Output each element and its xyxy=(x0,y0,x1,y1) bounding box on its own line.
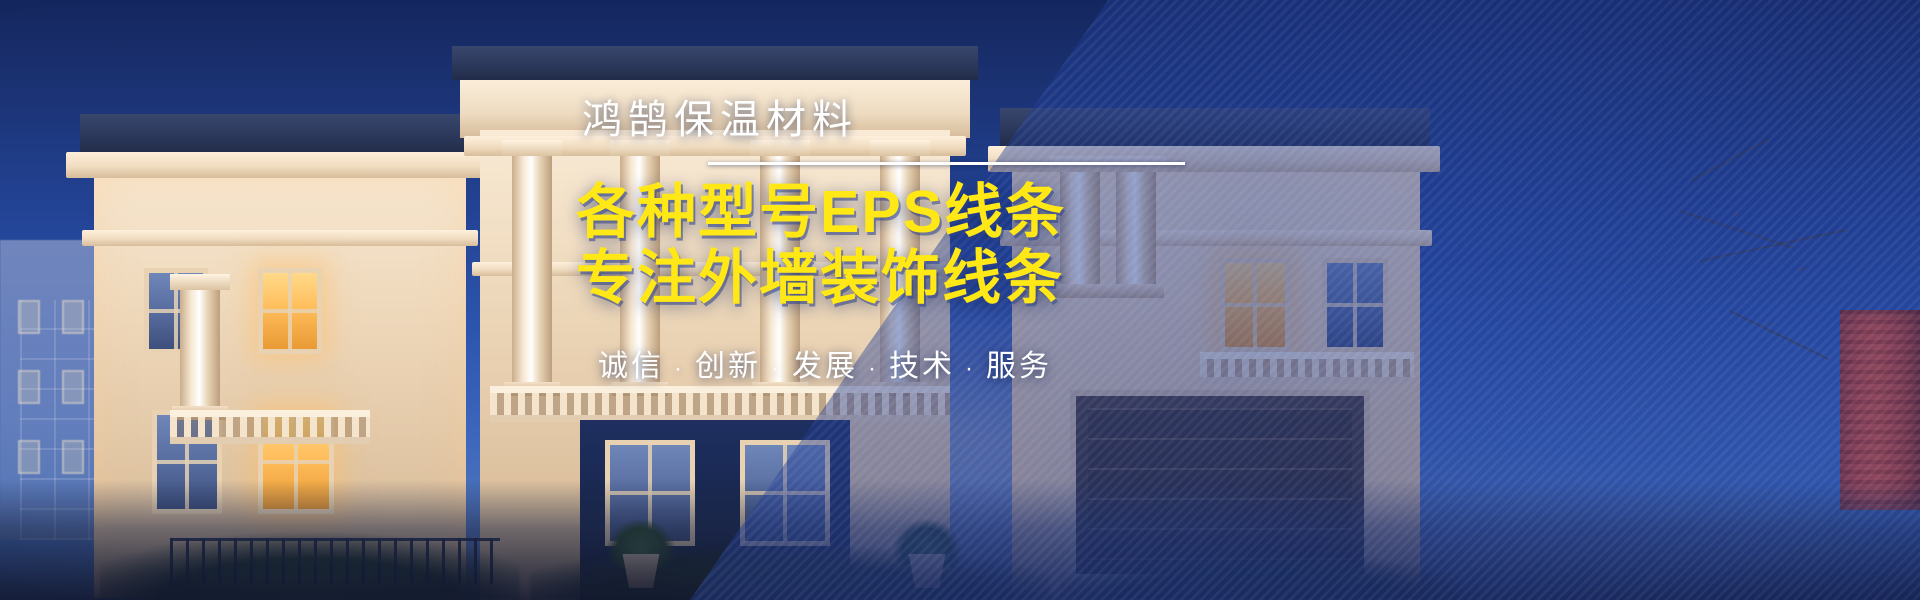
balustrade-left xyxy=(170,410,370,444)
tagline: 诚信·创新·发展·技术·服务 xyxy=(598,341,1276,385)
tagline-item: 诚信 xyxy=(598,350,664,383)
column-left-1 xyxy=(180,290,220,420)
cornice-left xyxy=(66,152,494,178)
tagline-item: 创新 xyxy=(695,350,761,383)
title-divider xyxy=(708,162,1185,165)
band-left xyxy=(82,230,478,246)
headline-line-2: 专注外墙装饰线条 xyxy=(576,245,1276,311)
headline-line-1: 各种型号EPS线条 xyxy=(576,179,1276,245)
roof-center xyxy=(452,46,978,80)
tagline-separator: · xyxy=(868,355,879,382)
tagline-separator: · xyxy=(674,355,685,382)
window-left-upper-2 xyxy=(258,268,322,354)
tagline-item: 服务 xyxy=(986,350,1052,383)
brand-name: 鸿鹄保温材料 xyxy=(582,96,1276,144)
banner-copy: 鸿鹄保温材料 各种型号EPS线条 专注外墙装饰线条 诚信·创新·发展·技术·服务 xyxy=(576,96,1276,385)
hero-banner: 鸿鹄保温材料 各种型号EPS线条 专注外墙装饰线条 诚信·创新·发展·技术·服务 xyxy=(0,0,1920,600)
tagline-item: 技术 xyxy=(889,350,955,383)
column-center-1 xyxy=(512,156,552,396)
tagline-separator: · xyxy=(771,355,782,382)
tagline-separator: · xyxy=(965,355,976,382)
tagline-item: 发展 xyxy=(792,350,858,383)
roof-left xyxy=(80,114,480,154)
